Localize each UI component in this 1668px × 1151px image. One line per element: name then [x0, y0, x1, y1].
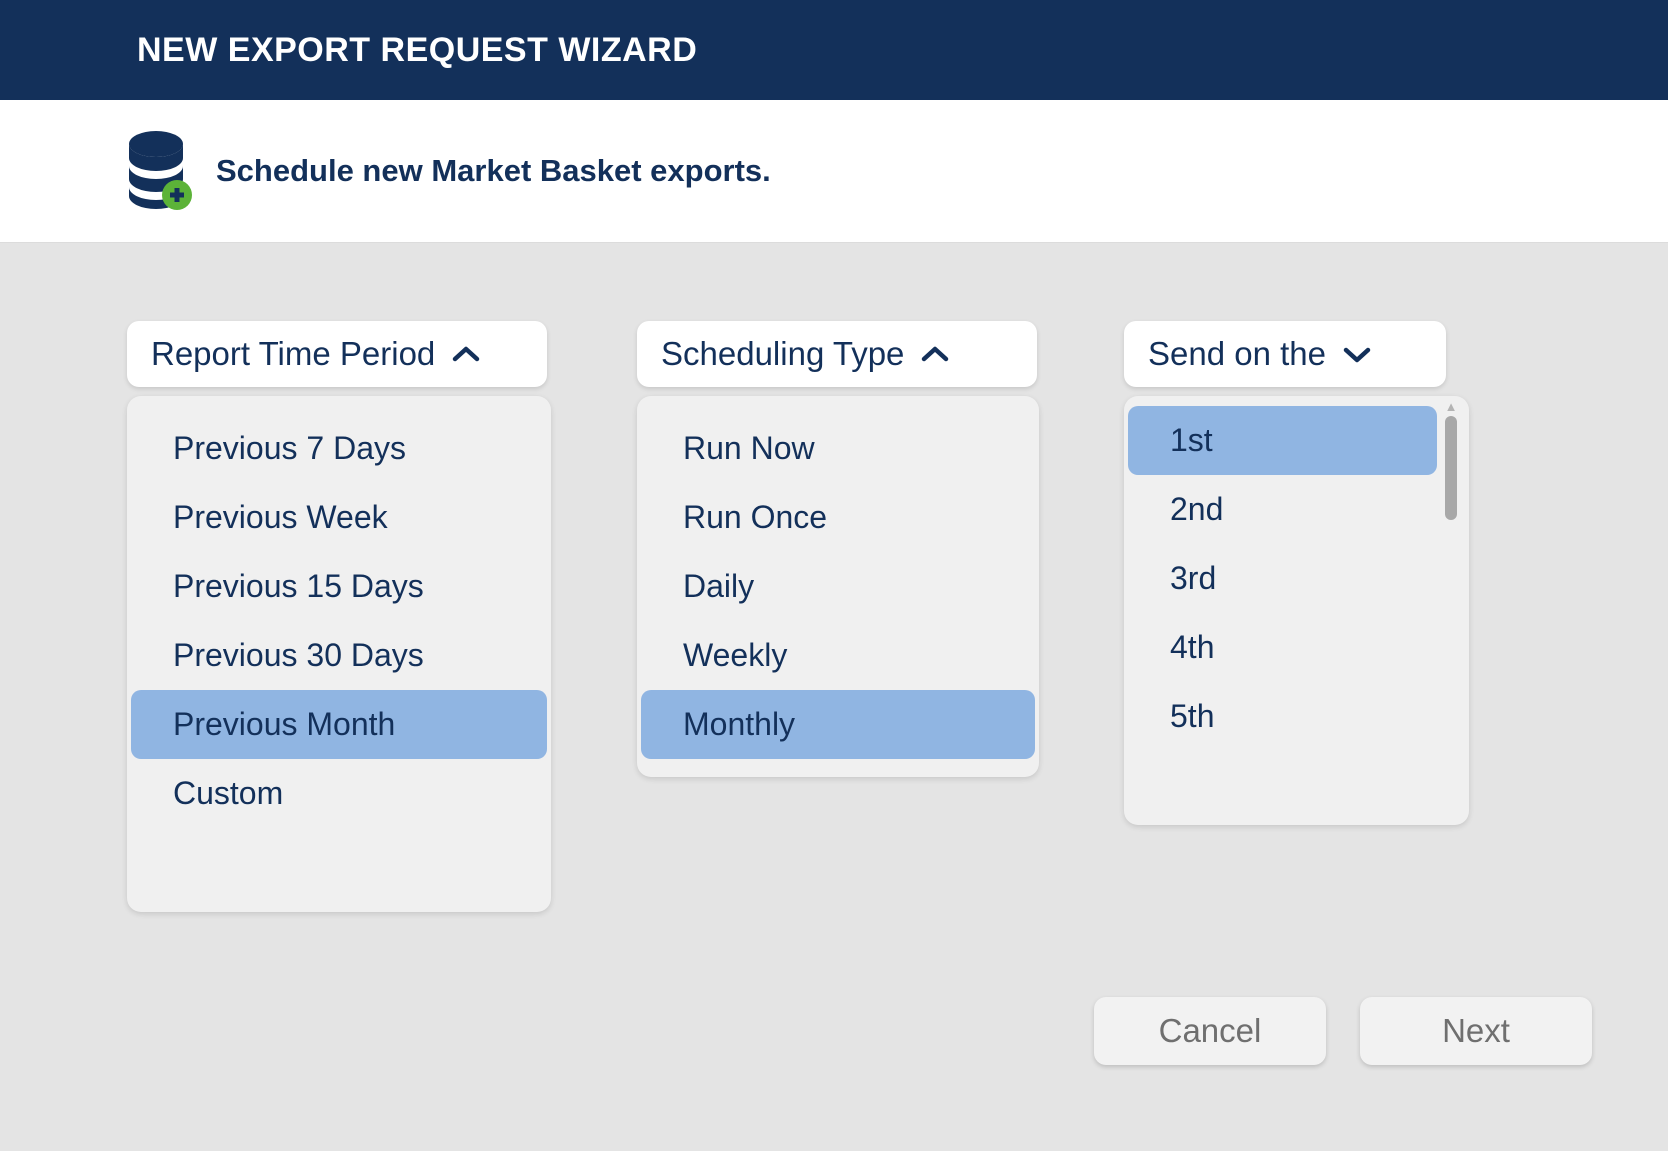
list-item[interactable]: 5th [1128, 682, 1437, 751]
list-item-selected[interactable]: Monthly [641, 690, 1035, 759]
scrollbar-thumb[interactable] [1445, 416, 1457, 520]
dropdown-report-time-period-header[interactable]: Report Time Period [127, 321, 547, 387]
dropdown-send-on-the-label: Send on the [1148, 335, 1326, 373]
dropdown-send-on-the: Send on the 1st 2nd 3rd 4th 5th ▲ [1124, 321, 1469, 825]
database-add-icon [124, 130, 194, 212]
dropdown-scheduling-type-header[interactable]: Scheduling Type [637, 321, 1037, 387]
wizard-body: Report Time Period Previous 7 Days Previ… [0, 243, 1668, 1151]
list-item[interactable]: Previous Week [131, 483, 547, 552]
dropdown-send-on-the-header[interactable]: Send on the [1124, 321, 1446, 387]
cancel-button[interactable]: Cancel [1094, 997, 1326, 1065]
next-button[interactable]: Next [1360, 997, 1592, 1065]
list-item[interactable]: Daily [641, 552, 1035, 621]
chevron-up-icon[interactable] [451, 344, 481, 364]
list-scrollbar[interactable]: ▲ [1440, 402, 1462, 819]
list-item[interactable]: 3rd [1128, 544, 1437, 613]
list-item[interactable]: Custom [131, 759, 547, 828]
subheader-title: Schedule new Market Basket exports. [216, 153, 771, 189]
dropdown-scheduling-type-list: Run Now Run Once Daily Weekly Monthly [637, 396, 1039, 777]
scroll-up-arrow-icon[interactable]: ▲ [1445, 402, 1458, 414]
chevron-up-icon[interactable] [920, 344, 950, 364]
list-item[interactable]: 2nd [1128, 475, 1437, 544]
dropdown-columns: Report Time Period Previous 7 Days Previ… [0, 321, 1469, 912]
wizard-footer: Cancel Next [1094, 997, 1592, 1065]
dropdown-scheduling-type: Scheduling Type Run Now Run Once Daily W… [637, 321, 1063, 777]
window-title: NEW EXPORT REQUEST WIZARD [137, 31, 697, 70]
dropdown-send-on-the-list: 1st 2nd 3rd 4th 5th ▲ [1124, 396, 1469, 825]
subheader-band: Schedule new Market Basket exports. [0, 100, 1668, 243]
dropdown-report-time-period: Report Time Period Previous 7 Days Previ… [127, 321, 574, 912]
list-item[interactable]: 4th [1128, 613, 1437, 682]
list-item-selected[interactable]: Previous Month [131, 690, 547, 759]
dropdown-scheduling-type-label: Scheduling Type [661, 335, 904, 373]
scrollbar-track[interactable] [1440, 414, 1462, 819]
list-item[interactable]: Run Once [641, 483, 1035, 552]
list-item[interactable]: Previous 30 Days [131, 621, 547, 690]
dropdown-report-time-period-label: Report Time Period [151, 335, 435, 373]
list-item-selected[interactable]: 1st [1128, 406, 1437, 475]
list-item[interactable]: Previous 7 Days [131, 414, 547, 483]
window-titlebar: NEW EXPORT REQUEST WIZARD [0, 0, 1668, 100]
dropdown-report-time-period-list: Previous 7 Days Previous Week Previous 1… [127, 396, 551, 912]
list-item[interactable]: Run Now [641, 414, 1035, 483]
list-item[interactable]: Previous 15 Days [131, 552, 547, 621]
chevron-down-icon[interactable] [1342, 344, 1372, 364]
list-item[interactable]: Weekly [641, 621, 1035, 690]
